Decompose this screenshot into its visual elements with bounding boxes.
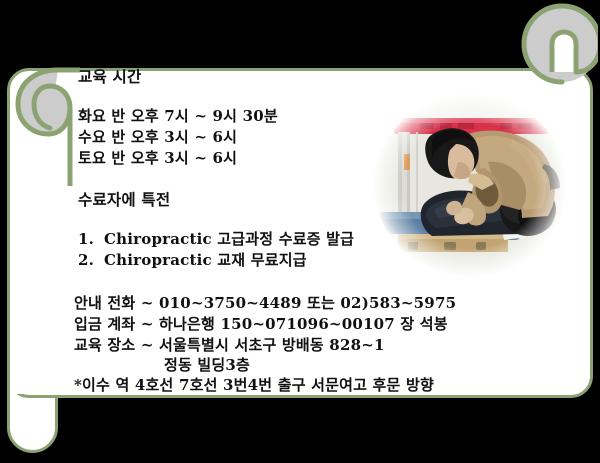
scroll-curl-left-icon	[4, 46, 80, 186]
benefits-heading: 수료자에 특전	[78, 188, 170, 210]
contact-phone-line: 안내 전화 ~ 010~3750~4489 또는 02)583~5975	[74, 292, 456, 313]
benefit-item-2: 2.Chiropractic 교재 무료지급	[78, 249, 307, 270]
schedule-heading: 교육 시간	[78, 65, 141, 87]
schedule-line-1: 화요 반 오후 7시 ~ 9시 30분	[78, 105, 278, 126]
poster-canvas: 교육 시간 화요 반 오후 7시 ~ 9시 30분 수요 반 오후 3시 ~ 6…	[0, 0, 600, 463]
contact-account-line: 입금 계좌 ~ 하나은행 150~071096~00107 장 석봉	[74, 313, 448, 334]
chiropractic-treatment-photo	[372, 92, 568, 278]
contact-building-line: 정동 빌딩3층	[164, 354, 250, 375]
scroll-curl-right-icon	[520, 2, 598, 94]
benefit-item-2-text: Chiropractic 교재 무료지급	[104, 251, 307, 269]
schedule-line-2: 수요 반 오후 3시 ~ 6시	[78, 126, 237, 147]
benefit-item-1-number: 1.	[78, 230, 104, 248]
schedule-line-3: 토요 반 오후 3시 ~ 6시	[78, 147, 237, 168]
contact-directions-line: *이수 역 4호선 7호선 3번4번 출구 서문여고 후문 방향	[74, 374, 434, 395]
benefit-item-2-number: 2.	[78, 251, 104, 269]
contact-address-line: 교육 장소 ~ 서울특별시 서초구 방배동 828~1	[74, 334, 385, 355]
benefit-item-1: 1.Chiropractic 고급과정 수료증 발급	[78, 228, 354, 249]
benefit-item-1-text: Chiropractic 고급과정 수료증 발급	[104, 230, 354, 248]
